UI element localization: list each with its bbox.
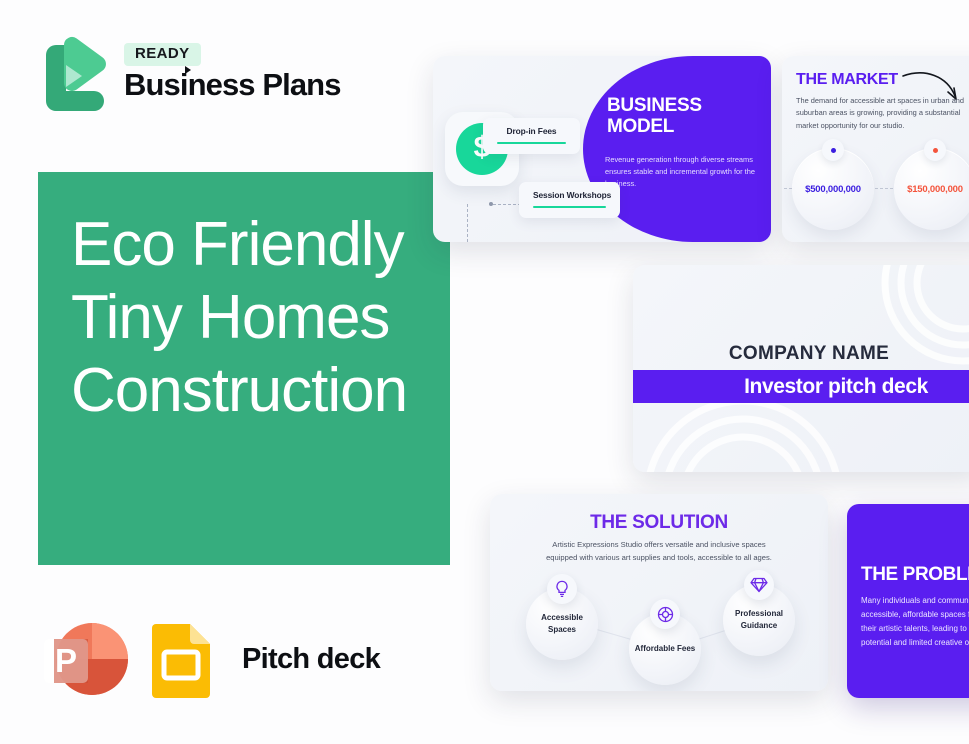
brand-name: Business Plans (124, 68, 341, 103)
solution-node[interactable]: Professional Guidance (723, 584, 795, 656)
ready-badge: READY (124, 43, 201, 67)
compass-icon (650, 599, 680, 629)
hero-line-1: Eco Friendly (71, 208, 471, 281)
market-title: THE MARKET (796, 71, 898, 89)
slide-solution[interactable]: THE SOLUTION Artistic Expressions Studio… (490, 494, 828, 691)
brand-lockup: READY Business Plans (38, 33, 341, 113)
underline-accent (497, 142, 566, 144)
market-body: The demand for accessible art spaces in … (796, 95, 966, 132)
solution-node[interactable]: Affordable Fees (629, 613, 701, 685)
format-label: Pitch deck (242, 643, 380, 676)
powerpoint-icon: P (42, 619, 128, 699)
business-model-item[interactable]: Drop-in Fees (483, 118, 580, 154)
connector-line (493, 204, 521, 205)
investor-band: Investor pitch deck (633, 370, 969, 403)
pin-dot-icon (822, 139, 844, 161)
hero-panel: Eco Friendly Tiny Homes Construction (38, 172, 450, 565)
connector-dot (489, 202, 493, 206)
slide-market[interactable]: THE MARKET The demand for accessible art… (782, 56, 969, 242)
play-triangle-logo (38, 33, 110, 113)
underline-accent (533, 206, 606, 208)
slide-business-model[interactable]: BUSINESS MODEL Revenue generation throug… (433, 56, 771, 242)
decorative-rings (633, 265, 969, 472)
solution-title: THE SOLUTION (490, 512, 828, 534)
google-slides-icon (148, 620, 216, 698)
business-model-body: Revenue generation through diverse strea… (605, 154, 757, 190)
connector-line (875, 188, 893, 189)
market-metric-tam: $500,000,000 (792, 148, 874, 230)
hero-line-2: Tiny Homes (71, 281, 471, 354)
slide-company-title[interactable]: COMPANY NAME Investor pitch deck (633, 265, 969, 472)
business-model-item[interactable]: Session Workshops (519, 182, 620, 218)
business-model-item-label: Drop-in Fees (497, 126, 566, 136)
format-row: P Pitch deck (42, 619, 380, 699)
investor-subtitle: Investor pitch deck (744, 375, 928, 399)
diamond-icon (744, 570, 774, 600)
hero-line-3: Construction (71, 354, 471, 427)
solution-node-label: Accessible Spaces (526, 612, 598, 635)
svg-text:P: P (55, 642, 77, 679)
solution-body: Artistic Expressions Studio offers versa… (540, 538, 778, 564)
slide-problem[interactable]: THE PROBLEM Many individuals and communi… (847, 504, 969, 698)
market-metric-amount: $500,000,000 (805, 184, 861, 195)
brand-name-text: Business Plans (124, 67, 341, 102)
brand-text: READY Business Plans (124, 43, 341, 103)
play-tick-icon (185, 66, 191, 74)
connector-line (782, 188, 792, 189)
pin-dot-icon (924, 139, 946, 161)
lightbulb-icon (547, 574, 577, 604)
solution-node-label: Affordable Fees (635, 643, 695, 655)
solution-node-label: Professional Guidance (723, 608, 795, 631)
poster-canvas: READY Business Plans Eco Friendly Tiny H… (0, 0, 969, 744)
market-metric-sam: $150,000,000 (894, 148, 969, 230)
problem-body: Many individuals and communities lack ac… (861, 594, 969, 650)
connector-line (597, 629, 632, 640)
company-name: COMPANY NAME (633, 343, 969, 365)
connector-line (467, 204, 468, 242)
business-model-title: BUSINESS MODEL (607, 95, 757, 138)
page-title: Eco Friendly Tiny Homes Construction (71, 208, 471, 427)
solution-node[interactable]: Accessible Spaces (526, 588, 598, 660)
problem-title: THE PROBLEM (861, 564, 969, 586)
market-metric-amount: $150,000,000 (907, 184, 963, 195)
business-model-item-label: Session Workshops (533, 190, 606, 200)
